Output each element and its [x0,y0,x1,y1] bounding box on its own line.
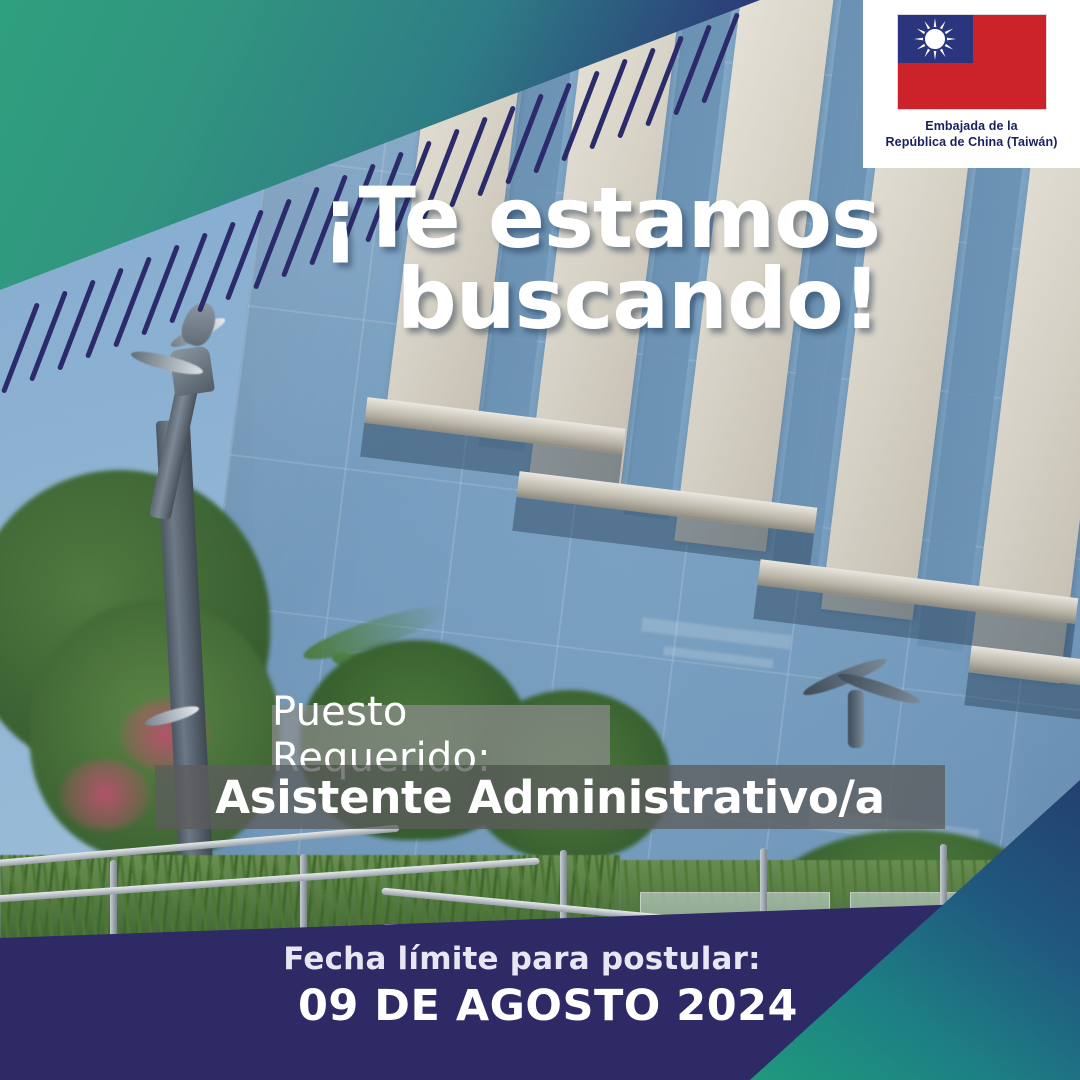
headline-line-1: ¡Te estamos [0,178,880,259]
logo-caption-line2: República de China (Taiwán) [886,135,1058,151]
sun-disc [923,27,947,51]
position-label-band: Puesto Requerido: [272,705,610,765]
position-value: Asistente Administrativo/a [215,771,884,824]
job-vacancy-poster: Embajada de la República de China (Taiwá… [0,0,1080,1080]
footer-content: Fecha límite para postular: 09 DE AGOSTO… [0,900,1080,1080]
embassy-logo: Embajada de la República de China (Taiwá… [863,0,1080,168]
deadline-label: Fecha límite para postular: [283,941,760,977]
logo-caption-line1: Embajada de la [886,119,1058,135]
logo-caption: Embajada de la República de China (Taiwá… [886,119,1058,150]
position-value-band: Asistente Administrativo/a [155,765,945,829]
headline: ¡Te estamos buscando! [0,178,900,341]
taiwan-flag-icon [897,14,1047,110]
headline-line-2: buscando! [0,259,880,340]
deadline-date: 09 DE AGOSTO 2024 [298,981,798,1031]
